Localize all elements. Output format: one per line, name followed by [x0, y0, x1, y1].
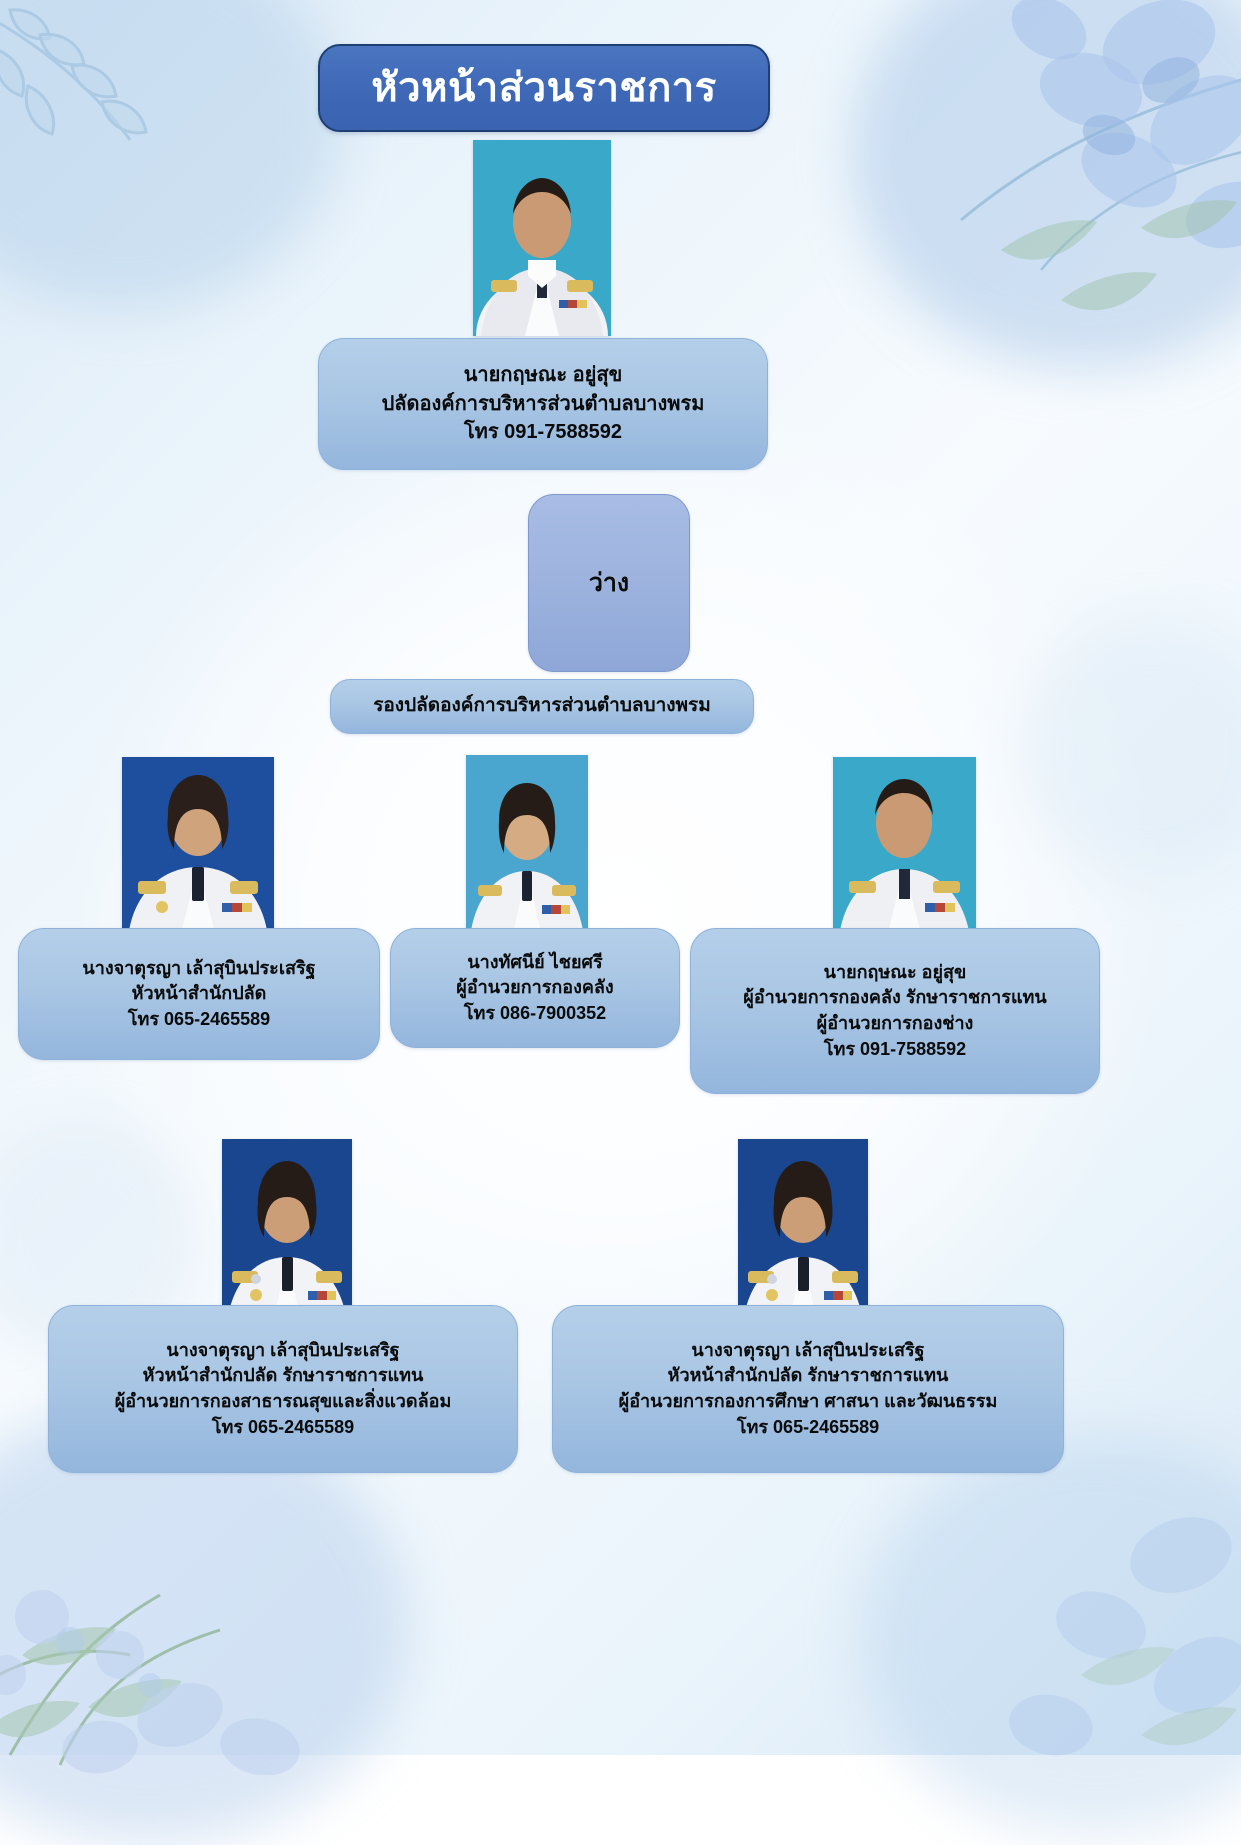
- officer-position: ผู้อำนวยการกองคลัง: [456, 975, 613, 1001]
- deputy-position: รองปลัดองค์การบริหารส่วนตำบลบางพรม: [373, 693, 711, 720]
- org-chart: หัวหน้าส่วนราชการ นายกฤษณะ อยู่สุข ปลัดอ…: [0, 0, 1241, 1755]
- card-top-officer[interactable]: นายกฤษณะ อยู่สุข ปลัดองค์การบริหารส่วนตำ…: [318, 338, 768, 470]
- officer-position: หัวหน้าสำนักปลัด: [132, 981, 267, 1007]
- officer-position: หัวหน้าสำนักปลัด รักษาราชการแทน: [143, 1363, 424, 1389]
- card-middle-officer-3[interactable]: นายกฤษณะ อยู่สุข ผู้อำนวยการกองคลัง รักษ…: [690, 928, 1100, 1094]
- officer-name: นางจาตุรญา เล้าสุบินประเสริฐ: [82, 956, 315, 982]
- card-bottom-officer-2[interactable]: นางจาตุรญา เล้าสุบินประเสริฐ หัวหน้าสำนั…: [552, 1305, 1064, 1473]
- page-title: หัวหน้าส่วนราชการ: [318, 44, 770, 132]
- card-middle-officer-2[interactable]: นางทัศนีย์ ไชยศรี ผู้อำนวยการกองคลัง โทร…: [390, 928, 680, 1048]
- avatar-bottom-officer-2: [738, 1139, 868, 1327]
- officer-phone: โทร 065-2465589: [212, 1415, 354, 1441]
- card-deputy-position[interactable]: รองปลัดองค์การบริหารส่วนตำบลบางพรม: [330, 679, 754, 734]
- officer-position-secondary: ผู้อำนวยการกองสาธารณสุขและสิ่งแวดล้อม: [115, 1389, 452, 1415]
- officer-phone: โทร 091-7588592: [824, 1037, 966, 1063]
- officer-position: หัวหน้าสำนักปลัด รักษาราชการแทน: [668, 1363, 949, 1389]
- page-title-label: หัวหน้าส่วนราชการ: [371, 68, 716, 108]
- vacant-position-box[interactable]: ว่าง: [528, 494, 690, 672]
- avatar-bottom-officer-1: [222, 1139, 352, 1327]
- officer-name: นายกฤษณะ อยู่สุข: [824, 960, 967, 986]
- officer-phone: โทร 086-7900352: [464, 1001, 606, 1027]
- officer-position-secondary: ผู้อำนวยการกองช่าง: [817, 1011, 974, 1037]
- officer-name: นางจาตุรญา เล้าสุบินประเสริฐ: [166, 1338, 399, 1364]
- avatar-middle-officer-1: [122, 757, 274, 937]
- officer-position: ปลัดองค์การบริหารส่วนตำบลบางพรม: [382, 390, 705, 418]
- card-middle-officer-1[interactable]: นางจาตุรญา เล้าสุบินประเสริฐ หัวหน้าสำนั…: [18, 928, 380, 1060]
- card-bottom-officer-1[interactable]: นางจาตุรญา เล้าสุบินประเสริฐ หัวหน้าสำนั…: [48, 1305, 518, 1473]
- officer-phone: โทร 091-7588592: [464, 418, 622, 446]
- officer-phone: โทร 065-2465589: [737, 1415, 879, 1441]
- avatar-middle-officer-3: [833, 757, 976, 937]
- avatar-top-officer: [473, 140, 611, 336]
- vacant-label: ว่าง: [589, 563, 629, 603]
- officer-position: ผู้อำนวยการกองคลัง รักษาราชการแทน: [743, 985, 1046, 1011]
- officer-name: นายกฤษณะ อยู่สุข: [464, 361, 623, 389]
- officer-position-secondary: ผู้อำนวยการกองการศึกษา ศาสนา และวัฒนธรรม: [619, 1389, 998, 1415]
- avatar-middle-officer-2: [466, 755, 588, 937]
- officer-name: นางจาตุรญา เล้าสุบินประเสริฐ: [691, 1338, 924, 1364]
- officer-name: นางทัศนีย์ ไชยศรี: [467, 950, 602, 976]
- officer-phone: โทร 065-2465589: [128, 1007, 270, 1033]
